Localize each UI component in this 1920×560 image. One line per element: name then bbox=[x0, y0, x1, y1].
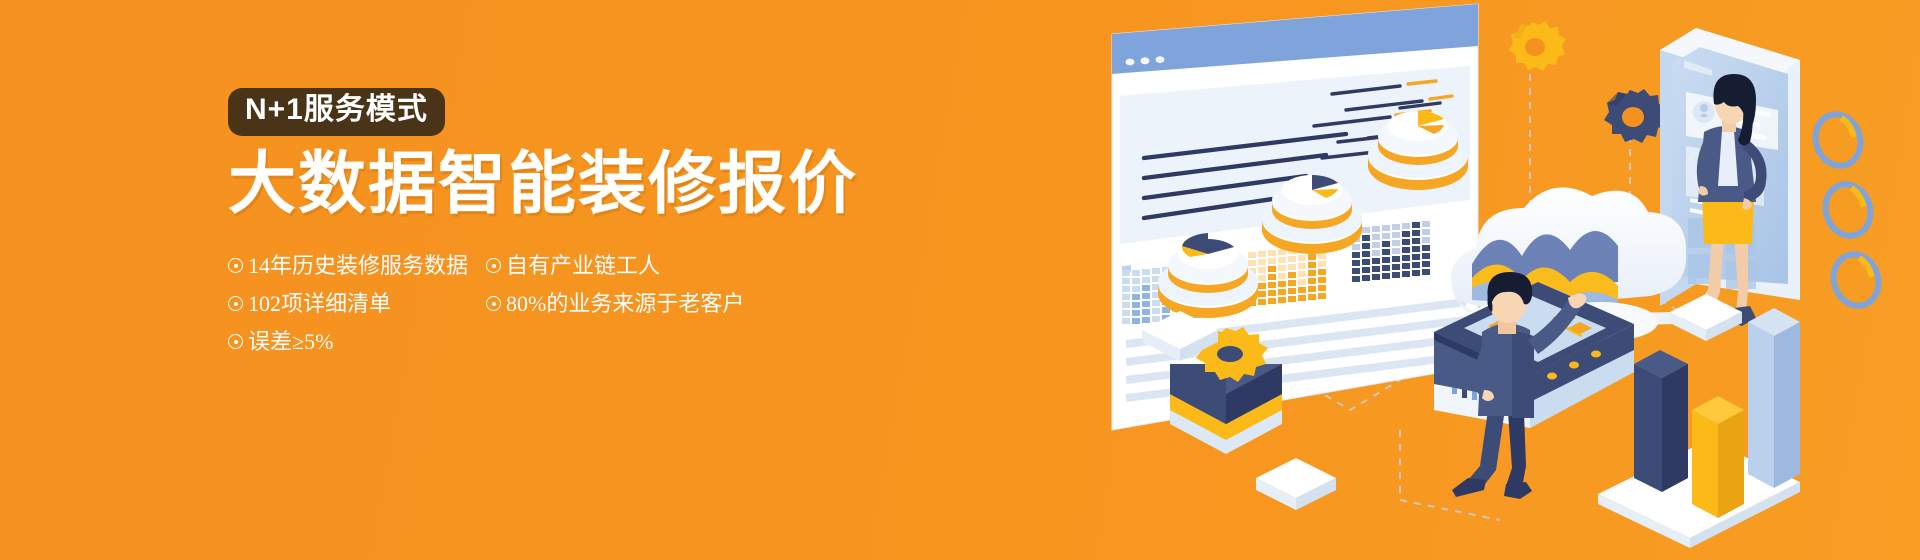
target-dot-icon bbox=[228, 258, 243, 273]
list-item: 80%的业务来源于老客户 bbox=[486, 293, 746, 315]
service-mode-badge: N+1服务模式 bbox=[228, 88, 445, 136]
list-item-label: 80%的业务来源于老客户 bbox=[506, 293, 744, 315]
list-item-label: 自有产业链工人 bbox=[506, 255, 660, 277]
list-item-label: 误差≥5% bbox=[248, 331, 333, 353]
target-dot-icon bbox=[228, 296, 243, 311]
ring-arcs bbox=[1809, 108, 1885, 311]
target-dot-icon bbox=[486, 296, 501, 311]
isometric-big-data-scene bbox=[1100, 0, 1920, 560]
list-item: 102项详细清单 bbox=[228, 293, 486, 315]
gear-icon-yellow bbox=[1509, 21, 1566, 71]
list-item: 14年历史装修服务数据 bbox=[228, 255, 486, 277]
feature-list: 14年历史装修服务数据 自有产业链工人 102项详细清单 80%的业务来源于老客… bbox=[228, 247, 928, 361]
list-item: 自有产业链工人 bbox=[486, 255, 746, 277]
page-title: 大数据智能装修报价 bbox=[228, 148, 928, 221]
copy-block: N+1服务模式 大数据智能装修报价 14年历史装修服务数据 自有产业链工人 10… bbox=[228, 88, 928, 361]
list-item-label: 102项详细清单 bbox=[248, 293, 391, 315]
target-dot-icon bbox=[486, 258, 501, 273]
target-dot-icon bbox=[228, 334, 243, 349]
list-item: 误差≥5% bbox=[228, 331, 486, 353]
promo-banner: N+1服务模式 大数据智能装修报价 14年历史装修服务数据 自有产业链工人 10… bbox=[0, 0, 1920, 560]
gear-icon-navy bbox=[1604, 89, 1667, 143]
list-item-label: 14年历史装修服务数据 bbox=[248, 255, 468, 277]
